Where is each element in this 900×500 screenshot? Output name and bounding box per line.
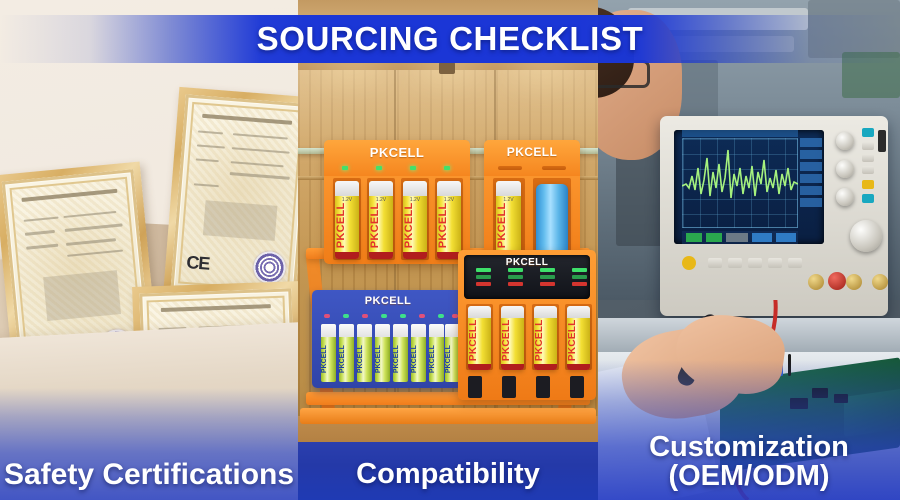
- charger-brand-label: PKCELL: [312, 295, 464, 307]
- battery-aa: PKCELL: [567, 306, 590, 370]
- battery-aa: PKCELL: [357, 324, 372, 382]
- eyeglasses-icon: [598, 60, 650, 88]
- display-stand-base: [300, 408, 596, 424]
- ceiling-sensor: [439, 62, 455, 74]
- charger-lcd-display: PKCELL: [464, 255, 590, 299]
- battery-aa: 1.2V PKCELL: [369, 181, 393, 259]
- battery-aa: PKCELL: [339, 324, 354, 382]
- probe-connector[interactable]: [828, 272, 846, 290]
- caption-overlay-compatibility: Compatibility: [298, 442, 598, 500]
- battery-aa: PKCELL: [411, 324, 426, 382]
- caption-overlay-safety: Safety Certifications: [0, 388, 298, 500]
- charger-four-slot-orange[interactable]: PKCELL 1.2V PKCELL 1.2V PKCELL 1.2V PKCE…: [324, 140, 470, 264]
- oscilloscope-power-button[interactable]: [682, 256, 696, 270]
- caption-customization-line1: Customization: [649, 433, 849, 463]
- charger-two-slot-orange[interactable]: PKCELL 1.2V PKCELL: [484, 140, 580, 264]
- certification-seal-icon: [252, 251, 286, 285]
- battery-aa: 1.2V PKCELL: [496, 181, 521, 259]
- caption-safety-certifications: Safety Certifications: [4, 460, 294, 500]
- page-title: SOURCING CHECKLIST: [257, 20, 644, 58]
- charger-brand-label: PKCELL: [324, 145, 470, 160]
- bnc-connector[interactable]: [846, 274, 862, 290]
- bnc-connector[interactable]: [872, 274, 888, 290]
- ce-mark-icon: CE: [186, 253, 210, 273]
- battery-aa: PKCELL: [375, 324, 390, 382]
- battery-aa: PKCELL: [393, 324, 408, 382]
- panel-customization: Customization (OEM/ODM): [598, 0, 900, 500]
- caption-compatibility: Compatibility: [356, 460, 540, 500]
- certificate-top-right: CE: [163, 87, 298, 307]
- battery-aa: PKCELL: [501, 306, 524, 370]
- panel-safety-certifications: CE CE: [0, 0, 298, 500]
- waveform-trace: [682, 138, 798, 228]
- charger-eight-slot-blue[interactable]: PKCELL PKCELL PKCELL PKCELL PKCELL PKCEL…: [312, 290, 464, 388]
- battery-aa: 1.2V PKCELL: [437, 181, 461, 259]
- caption-customization-line2: (OEM/ODM): [649, 462, 849, 492]
- battery-aa: PKCELL: [468, 306, 491, 370]
- battery-aa: 1.2V PKCELL: [335, 181, 359, 259]
- battery-aa: PKCELL: [429, 324, 444, 382]
- oscilloscope-screen: [674, 130, 824, 244]
- title-banner: SOURCING CHECKLIST: [0, 15, 900, 63]
- battery-aa: 1.2V PKCELL: [403, 181, 427, 259]
- charger-brand-label: PKCELL: [464, 257, 590, 268]
- caption-customization: Customization (OEM/ODM): [649, 433, 849, 500]
- charger-brand-label: PKCELL: [484, 145, 580, 159]
- oscilloscope-main-knob[interactable]: [850, 220, 882, 252]
- battery-aa: PKCELL: [321, 324, 336, 382]
- sourcing-checklist-banner: CE CE: [0, 0, 900, 500]
- charger-four-slot-lcd[interactable]: PKCELL: [458, 250, 596, 400]
- battery-lithium-blue: [536, 184, 568, 256]
- oscilloscope[interactable]: [660, 116, 888, 316]
- panel-compatibility: PKCELL 1.2V PKCELL 1.2V PKCELL 1.2V PKCE…: [298, 0, 598, 500]
- caption-overlay-customization: Customization (OEM/ODM): [598, 360, 900, 500]
- battery-aa: PKCELL: [534, 306, 557, 370]
- bnc-connector[interactable]: [808, 274, 824, 290]
